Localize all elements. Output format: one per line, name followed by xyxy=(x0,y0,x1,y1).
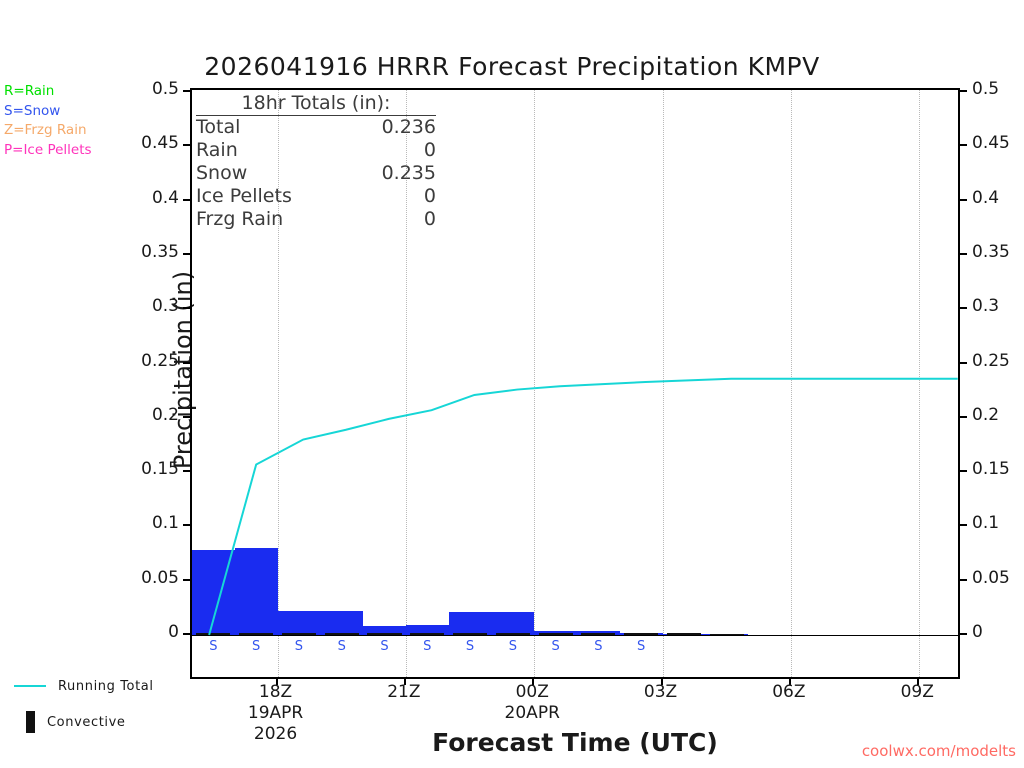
y-tick-mark-right xyxy=(960,144,967,146)
y-tick-label-right: 0 xyxy=(972,622,983,642)
bar-swatch-icon xyxy=(26,711,35,733)
y-tick-label-right: 0.05 xyxy=(972,568,1010,588)
forecast-precipitation-chart: 2026041916 HRRR Forecast Precipitation K… xyxy=(0,0,1024,768)
totals-row-label: Snow xyxy=(196,162,247,185)
precip-type-key: R=RainS=SnowZ=Frzg RainP=Ice Pellets xyxy=(4,82,92,160)
x-tick-sublabel-year: 2026 xyxy=(254,724,297,744)
y-tick-label-right: 0.1 xyxy=(972,513,999,533)
y-tick-mark-left xyxy=(183,470,190,472)
y-tick-mark-left xyxy=(183,144,190,146)
chart-legend: Running TotalConvective xyxy=(8,668,154,740)
x-tick-sublabel-date: 20APR xyxy=(505,703,560,723)
y-tick-mark-right xyxy=(960,253,967,255)
precip-type-marker: S xyxy=(209,639,217,654)
y-tick-mark-right xyxy=(960,362,967,364)
precip-type-marker: S xyxy=(423,639,431,654)
y-tick-label-left: 0.35 xyxy=(109,242,179,262)
y-tick-mark-right xyxy=(960,633,967,635)
y-tick-label-left: 0.3 xyxy=(109,296,179,316)
y-tick-mark-left xyxy=(183,307,190,309)
x-tick-label: 09Z xyxy=(901,682,934,702)
y-tick-label-left: 0.25 xyxy=(109,351,179,371)
precip-type-marker: S xyxy=(509,639,517,654)
x-tick-sublabel-date: 19APR xyxy=(248,703,303,723)
y-tick-label-left: 0.05 xyxy=(109,568,179,588)
totals-row-label: Frzg Rain xyxy=(196,208,283,231)
precip-type-marker: S xyxy=(338,639,346,654)
x-axis-label: Forecast Time (UTC) xyxy=(190,728,960,757)
totals-row-label: Total xyxy=(196,116,240,139)
precip-key-item-3: P=Ice Pellets xyxy=(4,141,92,161)
x-tick-label: 06Z xyxy=(772,682,805,702)
precip-key-item-1: S=Snow xyxy=(4,102,92,122)
page-title: 2026041916 HRRR Forecast Precipitation K… xyxy=(0,52,1024,81)
totals-header: 18hr Totals (in): xyxy=(196,92,436,116)
y-tick-label-left: 0.5 xyxy=(109,79,179,99)
y-tick-mark-right xyxy=(960,90,967,92)
y-tick-label-right: 0.35 xyxy=(972,242,1010,262)
y-tick-label-right: 0.25 xyxy=(972,351,1010,371)
precip-type-marker: S xyxy=(380,639,388,654)
legend-label: Convective xyxy=(47,715,126,730)
totals-row-value: 0.236 xyxy=(382,116,436,139)
y-tick-label-right: 0.15 xyxy=(972,459,1010,479)
y-tick-mark-left xyxy=(183,524,190,526)
line-swatch-icon xyxy=(14,685,46,687)
y-tick-mark-left xyxy=(183,199,190,201)
y-tick-mark-right xyxy=(960,416,967,418)
totals-row: Total0.236 xyxy=(196,116,436,139)
totals-row-value: 0.235 xyxy=(382,162,436,185)
totals-row: Rain0 xyxy=(196,139,436,162)
legend-label: Running Total xyxy=(58,679,154,694)
totals-row-label: Rain xyxy=(196,139,238,162)
y-tick-mark-left xyxy=(183,362,190,364)
y-tick-mark-left xyxy=(183,416,190,418)
legend-item-running-total: Running Total xyxy=(8,668,154,704)
y-tick-label-left: 0.1 xyxy=(109,513,179,533)
totals-row: Frzg Rain0 xyxy=(196,208,436,231)
y-tick-mark-left xyxy=(183,253,190,255)
totals-summary-box: 18hr Totals (in): Total0.236Rain0Snow0.2… xyxy=(196,92,436,231)
precip-type-marker: S xyxy=(295,639,303,654)
totals-row-value: 0 xyxy=(424,139,436,162)
y-tick-mark-left xyxy=(183,579,190,581)
totals-row: Snow0.235 xyxy=(196,162,436,185)
totals-row-label: Ice Pellets xyxy=(196,185,292,208)
precip-type-marker: S xyxy=(252,639,260,654)
totals-rows: Total0.236Rain0Snow0.235Ice Pellets0Frzg… xyxy=(196,116,436,231)
y-tick-label-right: 0.2 xyxy=(972,405,999,425)
y-tick-label-right: 0.5 xyxy=(972,79,999,99)
totals-row-value: 0 xyxy=(424,208,436,231)
precip-key-item-2: Z=Frzg Rain xyxy=(4,121,92,141)
y-tick-label-right: 0.3 xyxy=(972,296,999,316)
y-tick-label-left: 0.4 xyxy=(109,188,179,208)
y-tick-mark-left xyxy=(183,633,190,635)
y-tick-mark-right xyxy=(960,470,967,472)
totals-row-value: 0 xyxy=(424,185,436,208)
x-tick-label: 03Z xyxy=(644,682,677,702)
precip-type-marker: S xyxy=(637,639,645,654)
y-tick-label-left: 0 xyxy=(109,622,179,642)
y-tick-label-left: 0.15 xyxy=(109,459,179,479)
totals-row: Ice Pellets0 xyxy=(196,185,436,208)
precip-type-marker: S xyxy=(466,639,474,654)
x-tick-label: 18Z xyxy=(259,682,292,702)
y-tick-label-right: 0.4 xyxy=(972,188,999,208)
x-tick-label: 00Z xyxy=(516,682,549,702)
y-tick-mark-right xyxy=(960,524,967,526)
y-tick-mark-right xyxy=(960,307,967,309)
y-tick-label-right: 0.45 xyxy=(972,133,1010,153)
precip-key-item-0: R=Rain xyxy=(4,82,92,102)
precip-type-marker: S xyxy=(551,639,559,654)
precip-type-marker: S xyxy=(594,639,602,654)
y-tick-mark-right xyxy=(960,199,967,201)
y-tick-label-left: 0.45 xyxy=(109,133,179,153)
watermark: coolwx.com/modelts xyxy=(862,742,1016,760)
x-tick-label: 21Z xyxy=(387,682,420,702)
running-total-path xyxy=(209,379,958,635)
y-tick-mark-right xyxy=(960,579,967,581)
y-tick-label-left: 0.2 xyxy=(109,405,179,425)
y-tick-mark-left xyxy=(183,90,190,92)
legend-item-convective: Convective xyxy=(8,704,154,740)
